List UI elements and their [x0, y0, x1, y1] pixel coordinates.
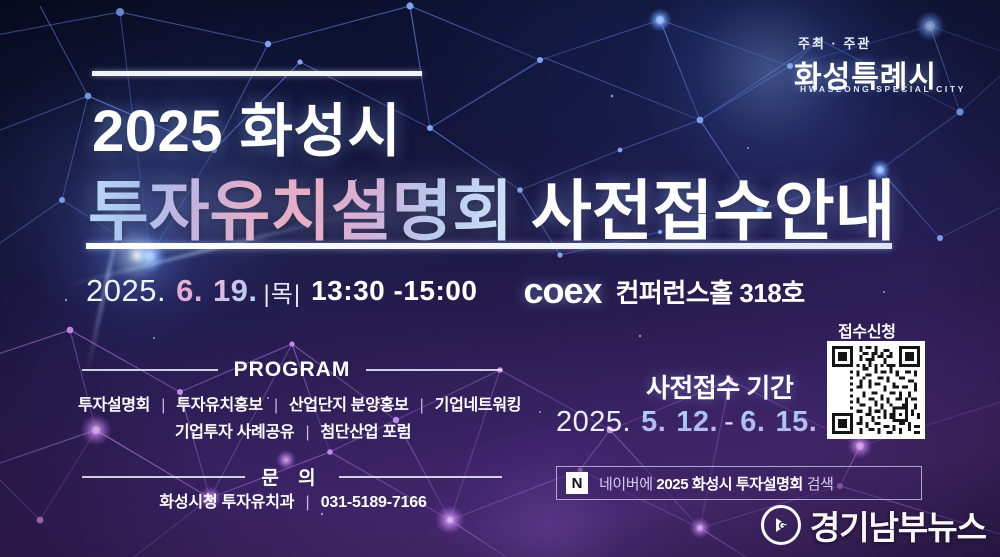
qr-code-icon — [832, 346, 920, 434]
program-items-row1: 투자설명회 | 투자유치홍보 | 산업단지 분양홍보 | 기업네트워킹 — [78, 391, 508, 415]
naver-logo-icon: N — [566, 472, 588, 494]
event-poster: 주최 · 주관 화성특례시 HWASEONG SPECIAL CITY 2025… — [0, 0, 1000, 557]
program-item: 기업네트워킹 — [435, 397, 522, 414]
registration-start-year: 2025. — [556, 406, 631, 439]
watermark-text: 경기남부뉴스 — [810, 501, 986, 549]
program-item: 투자유치홍보 — [176, 397, 263, 414]
contact-rule-left — [82, 476, 245, 478]
program-rule-left — [82, 369, 218, 371]
registration-end-month: 6. — [740, 406, 765, 439]
contact-separator: | — [306, 494, 310, 511]
contact-department: 화성시청 투자유치과 — [159, 494, 294, 511]
hwaseong-city-logo-english: HWASEONG SPECIAL CITY — [800, 84, 966, 94]
qr-code[interactable] — [827, 341, 925, 439]
host-prefix-label: 주최 · 주관 — [798, 33, 871, 52]
program-separator: | — [420, 397, 424, 414]
venue-hall-label: 컨퍼런스홀 318호 — [616, 273, 805, 310]
naver-keyword: 2025 화성시 투자설명회 — [656, 476, 803, 493]
program-separator: | — [161, 397, 165, 414]
naver-prefix: 네이버에 — [599, 476, 653, 493]
registration-start-day: 12. — [676, 406, 718, 439]
play-circle-g-icon: G — [761, 505, 801, 545]
naver-search-bar[interactable]: N 네이버에 2025 화성시 투자설명회 검색 — [556, 466, 922, 500]
poster-title-line1: 2025 화성시 — [92, 84, 401, 168]
program-separator: | — [274, 397, 278, 414]
title-bottom-rule — [86, 243, 892, 249]
registration-period-dates: 2025. 5. 12. - 6. 15. — [556, 406, 817, 439]
event-date-day: 19. — [213, 273, 258, 309]
contact-rule-right — [339, 476, 502, 478]
contact-section-heading: 문 의 — [82, 463, 502, 490]
naver-suffix: 검색 — [807, 476, 834, 493]
event-date-year: 2025. — [86, 273, 166, 309]
poster-title-line2: 투자유치설명회 사전접수안내 — [88, 158, 895, 254]
watermark: G 경기남부뉴스 — [761, 501, 986, 549]
title-top-rule — [92, 71, 422, 76]
event-day-of-week: |목| — [264, 274, 302, 309]
program-item: 첨단산업 포럼 — [321, 424, 412, 441]
qr-code-label: 접수신청 — [838, 318, 896, 342]
registration-start-month: 5. — [641, 406, 666, 439]
program-rule-right — [366, 369, 502, 371]
program-section-heading: PROGRAM — [82, 358, 502, 382]
svg-text:G: G — [778, 521, 786, 532]
program-items-row2: 기업투자 사례공유 | 첨단산업 포럼 — [78, 418, 508, 442]
event-date: 2025. 6. 19. — [86, 273, 258, 309]
poster-title-gradient-text: 투자유치설명회 — [88, 158, 513, 254]
naver-search-text: 네이버에 2025 화성시 투자설명회 검색 — [599, 473, 834, 494]
event-venue: coex 컨퍼런스홀 318호 — [523, 270, 804, 312]
contact-heading-label: 문 의 — [245, 463, 338, 490]
program-separator: | — [305, 424, 309, 441]
coex-logo: coex — [523, 270, 601, 312]
program-heading-label: PROGRAM — [218, 358, 367, 382]
contact-phone: 031-5189-7166 — [321, 494, 427, 511]
program-item: 기업투자 사례공유 — [175, 424, 295, 441]
poster-title-white-text: 사전접수안내 — [531, 158, 895, 254]
event-meta-row: 2025. 6. 19. |목| 13:30 -15:00 coex 컨퍼런스홀… — [86, 270, 805, 312]
program-item: 산업단지 분양홍보 — [289, 397, 409, 414]
event-date-month: 6. — [176, 273, 203, 309]
contact-details: 화성시청 투자유치과 | 031-5189-7166 — [78, 488, 508, 512]
registration-end-day: 15. — [775, 406, 817, 439]
event-time: 13:30 -15:00 — [311, 275, 477, 307]
registration-period-heading: 사전접수 기간 — [646, 368, 793, 405]
program-item: 투자설명회 — [78, 397, 150, 414]
registration-date-dash: - — [724, 406, 734, 439]
